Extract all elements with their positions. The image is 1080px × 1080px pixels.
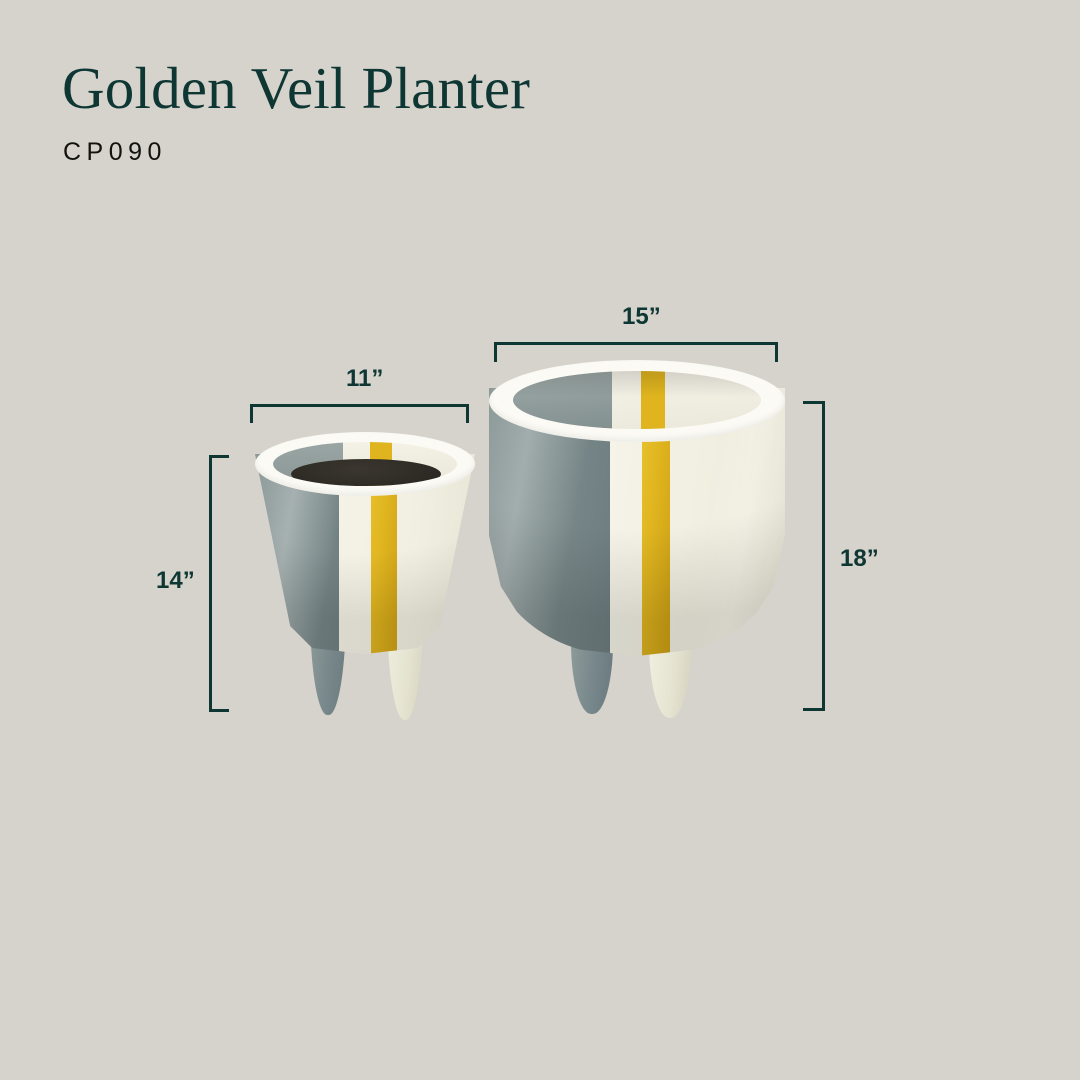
interior-stripe-gold: [641, 371, 665, 429]
dimension-label-small-width: 11”: [346, 365, 383, 393]
dimension-label-large-width: 15”: [622, 303, 661, 331]
interior-band-gray: [513, 371, 612, 429]
interior-band-cream: [612, 371, 761, 429]
product-spec-sheet: Golden Veil Planter CP090 11” 14”: [0, 0, 1080, 1080]
page-title: Golden Veil Planter: [62, 58, 530, 120]
small-planter-rim: [255, 432, 475, 496]
product-sku: CP090: [63, 138, 167, 167]
soil: [291, 459, 441, 486]
small-planter-interior: [273, 442, 457, 486]
dimension-label-large-height: 18”: [840, 545, 879, 573]
leg-gray: [571, 642, 613, 714]
dimension-label-small-height: 14”: [156, 567, 195, 595]
large-planter-rim: [489, 360, 785, 442]
large-planter-interior: [513, 371, 761, 429]
large-planter: [489, 360, 785, 715]
small-planter: [255, 432, 475, 717]
